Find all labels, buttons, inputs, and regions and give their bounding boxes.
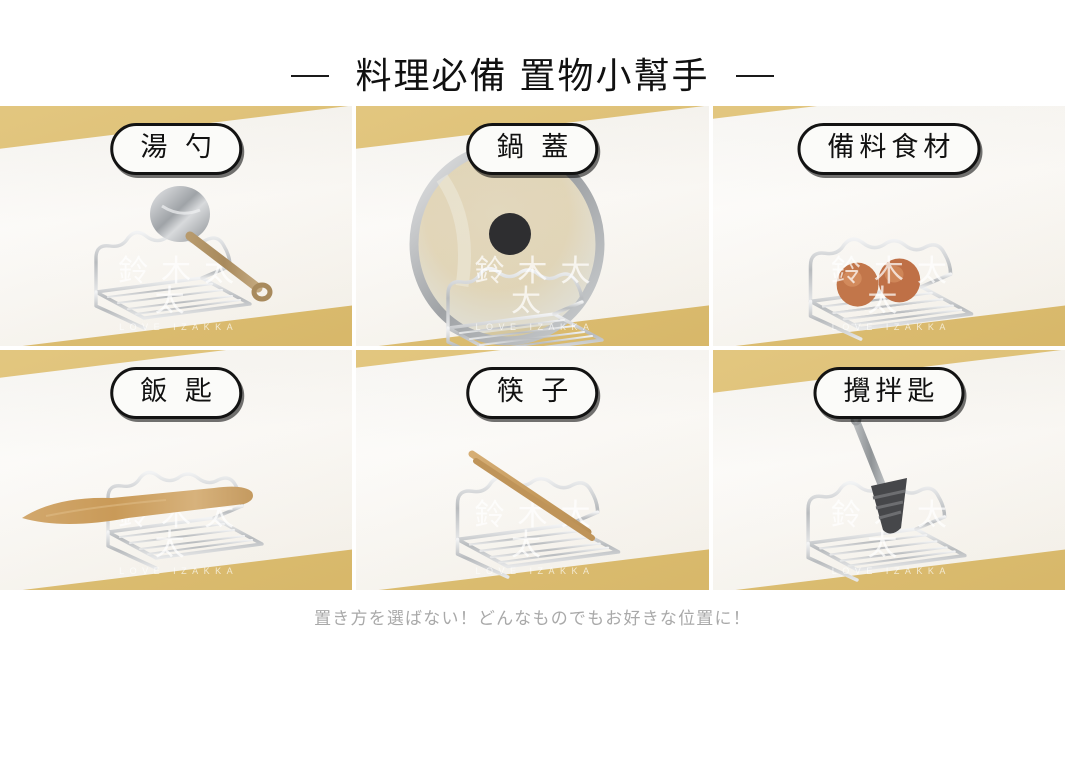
cell-stir-spoon: 攪拌匙 鈴木太太 LOVE IZAKKA [713,350,1065,590]
cell-pot-lid: 鍋 蓋 鈴木太太 LOVE IZAKKA [356,106,708,346]
title-dash-right [736,75,774,77]
rice-paddle-icon [16,474,296,544]
wire-rack [430,254,620,346]
badge-ladle: 湯 勺 [110,123,242,175]
page-title-bar: 料理必備 置物小幫手 [0,48,1065,104]
cell-ingredients: 備料食材 鈴木太太 LOVE IZAKKA [713,106,1065,346]
cell-ladle: 湯 勺 鈴木太太 LOVE IZAKKA [0,106,352,346]
cell-chopsticks: 筷 子 鈴木太太 LOVE IZAKKA [356,350,708,590]
badge-stir-spoon: 攪拌匙 [813,367,964,419]
cell-rice-paddle: 飯 匙 鈴木太太 LOVE IZAKKA [0,350,352,590]
footer-caption: 置き方を選ばない！どんなものでもお好きな位置に！ [0,604,1065,629]
product-feature-page: 料理必備 置物小幫手 [0,0,1065,761]
wire-rack [791,224,991,339]
badge-chopsticks: 筷 子 [467,367,599,419]
title-dash-left [291,75,329,77]
badge-ingredients: 備料食材 [797,123,980,175]
badge-pot-lid: 鍋 蓋 [467,123,599,175]
chopsticks-icon [466,446,646,556]
page-title: 料理必備 置物小幫手 [355,58,709,94]
product-usage-grid: 湯 勺 鈴木太太 LOVE IZAKKA [0,106,1065,590]
ladle-icon [140,184,320,314]
stirring-spoon-icon [841,412,951,552]
badge-rice-paddle: 飯 匙 [110,367,242,419]
